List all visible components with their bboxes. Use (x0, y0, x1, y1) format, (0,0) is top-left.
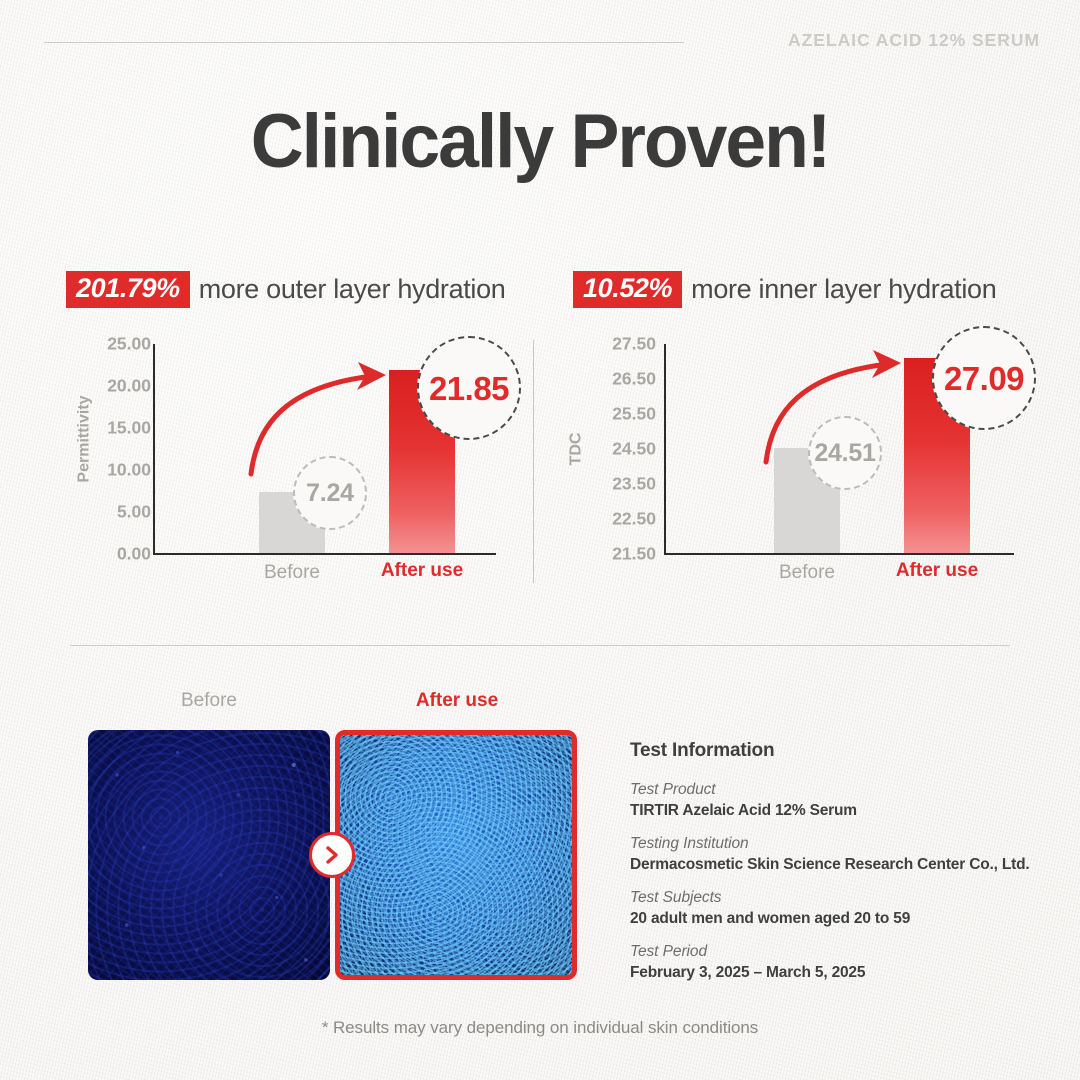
test-info-row: Test Period February 3, 2025 – March 5, … (630, 943, 1030, 982)
x-axis-line (664, 553, 1014, 555)
y-tick: 22.50 (612, 510, 656, 528)
x-label-after-permittivity: After use (381, 560, 463, 582)
test-info-key: Test Subjects (630, 889, 1030, 907)
test-info-value: 20 adult men and women aged 20 to 59 (630, 910, 1030, 928)
x-label-after-tdc: After use (896, 560, 978, 582)
stat-label-outer: more outer layer hydration (199, 274, 506, 305)
chart-tdc: TDC 27.50 26.50 25.50 24.50 23.50 22.50 … (560, 330, 1025, 590)
y-tick: 0.00 (117, 545, 151, 563)
test-info-row: Test Subjects 20 adult men and women age… (630, 889, 1030, 928)
chevron-right-icon (309, 832, 355, 878)
x-label-before-permittivity: Before (264, 562, 320, 584)
value-bubble-after-permittivity: 21.85 (417, 336, 521, 440)
comparison-label-before: Before (181, 690, 237, 712)
microscopy-image-before (88, 730, 330, 980)
y-tick: 23.50 (612, 475, 656, 493)
plot-area-permittivity: 7.24 21.85 (153, 344, 496, 555)
chart-vertical-divider (533, 340, 534, 583)
disclaimer-text: * Results may vary depending on individu… (0, 1018, 1080, 1038)
test-information-heading: Test Information (630, 740, 1030, 762)
stat-heading-outer-hydration: 201.79% more outer layer hydration (66, 271, 506, 308)
y-tick: 21.50 (612, 545, 656, 563)
chart-permittivity: Permittivity 25.00 20.00 15.00 10.00 5.0… (55, 330, 515, 590)
y-axis-ticks-tdc: 27.50 26.50 25.50 24.50 23.50 22.50 21.5… (560, 330, 656, 555)
y-tick: 20.00 (107, 377, 151, 395)
stat-badge-percent-inner: 10.52% (573, 271, 682, 308)
test-info-key: Test Product (630, 781, 1030, 799)
test-information-panel: Test Information Test Product TIRTIR Aze… (630, 740, 1030, 997)
y-tick: 15.00 (107, 419, 151, 437)
value-bubble-after-tdc: 27.09 (932, 326, 1036, 430)
y-axis-ticks-permittivity: 25.00 20.00 15.00 10.00 5.00 0.00 (55, 330, 151, 555)
value-bubble-before-permittivity: 7.24 (293, 456, 367, 530)
y-tick: 25.50 (612, 405, 656, 423)
y-axis-line (664, 344, 666, 555)
y-tick: 24.50 (612, 440, 656, 458)
test-info-row: Test Product TIRTIR Azelaic Acid 12% Ser… (630, 781, 1030, 820)
microscopy-image-after (335, 730, 577, 980)
y-tick: 25.00 (107, 335, 151, 353)
y-tick: 10.00 (107, 461, 151, 479)
test-info-key: Test Period (630, 943, 1030, 961)
y-tick: 5.00 (117, 503, 151, 521)
stat-heading-inner-hydration: 10.52% more inner layer hydration (573, 271, 996, 308)
product-eyebrow-label: AZELAIC ACID 12% SERUM (788, 30, 1040, 51)
test-info-value: February 3, 2025 – March 5, 2025 (630, 964, 1030, 982)
y-tick: 26.50 (612, 370, 656, 388)
plot-area-tdc: 24.51 27.09 (664, 344, 1014, 555)
test-info-value: TIRTIR Azelaic Acid 12% Serum (630, 802, 1030, 820)
y-tick: 27.50 (612, 335, 656, 353)
stat-badge-percent-outer: 201.79% (66, 271, 190, 308)
page-title: Clinically Proven! (19, 98, 1061, 185)
y-axis-line (153, 344, 155, 555)
header-divider (44, 42, 684, 43)
infographic-page: AZELAIC ACID 12% SERUM Clinically Proven… (0, 0, 1080, 1080)
test-info-key: Testing Institution (630, 835, 1030, 853)
x-label-before-tdc: Before (779, 562, 835, 584)
comparison-label-after: After use (416, 690, 498, 712)
value-bubble-before-tdc: 24.51 (808, 416, 882, 490)
section-divider (70, 645, 1010, 646)
x-axis-line (153, 553, 496, 555)
stat-label-inner: more inner layer hydration (691, 274, 996, 305)
test-info-value: Dermacosmetic Skin Science Research Cent… (630, 856, 1030, 874)
test-info-row: Testing Institution Dermacosmetic Skin S… (630, 835, 1030, 874)
